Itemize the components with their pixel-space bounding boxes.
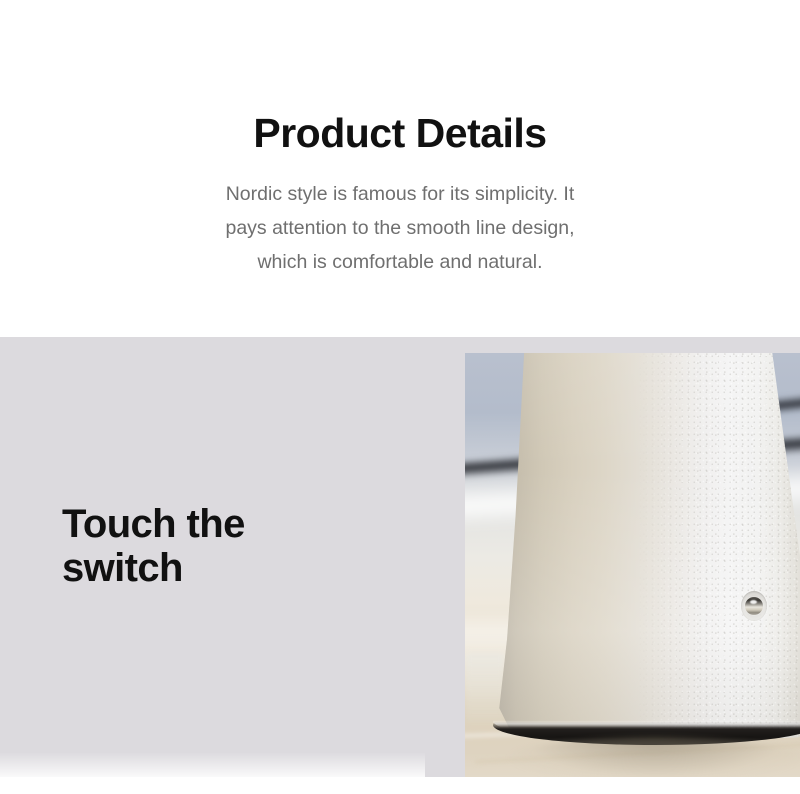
- feature-caption: Touch the switch: [62, 502, 392, 590]
- switch-highlight: [750, 600, 757, 604]
- page-title: Product Details: [0, 111, 800, 156]
- panel-bottom-fade: [0, 752, 425, 777]
- lamp-body: [485, 353, 800, 745]
- intro-description-line: pays attention to the smooth line design…: [168, 211, 632, 245]
- touch-switch-icon[interactable]: [741, 591, 767, 621]
- lamp-floor-reflection: [507, 737, 800, 777]
- lamp-cone: [485, 353, 800, 739]
- feature-caption-panel: Touch the switch: [0, 337, 425, 777]
- feature-caption-line: Touch the: [62, 502, 392, 546]
- product-photo: [465, 353, 800, 777]
- lamp-base-highlight: [493, 701, 800, 741]
- feature-caption-line: switch: [62, 546, 392, 590]
- intro-description: Nordic style is famous for its simplicit…: [168, 177, 632, 279]
- intro-description-line: Nordic style is famous for its simplicit…: [168, 177, 632, 211]
- intro-section: Product Details Nordic style is famous f…: [0, 0, 800, 337]
- lamp-texture: [485, 353, 800, 739]
- product-details-page: Product Details Nordic style is famous f…: [0, 0, 800, 794]
- bottom-white-strip: [0, 777, 800, 794]
- feature-section: Touch the switch: [0, 337, 800, 777]
- intro-description-line: which is comfortable and natural.: [168, 245, 632, 279]
